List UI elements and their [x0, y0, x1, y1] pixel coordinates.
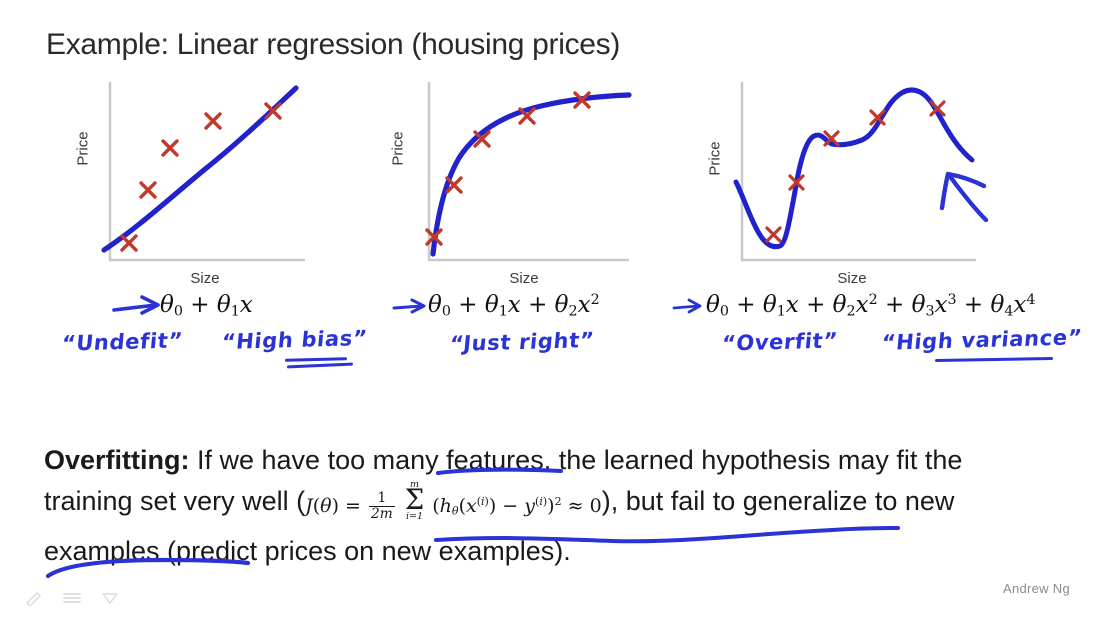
annotation-underfit-text: “Undefit”	[61, 328, 184, 355]
equation-underfit: θ0 + θ1x	[160, 292, 253, 320]
cost-function-formula: J(θ) = 12m mΣi=1 (hθ(x(i)) − y(i))2 ≈ 0	[305, 481, 602, 531]
plot-overfit-svg	[728, 78, 1018, 273]
data-markers	[767, 102, 944, 241]
plot-just-right-y-label: Price	[390, 131, 407, 165]
annotation-just-right-text: “Just right”	[449, 328, 596, 356]
annotation-overfit: “Overfit”	[722, 330, 838, 354]
plot-just-right-x-label: Size	[415, 270, 633, 287]
plot-underfit: Price Size	[100, 78, 310, 273]
annotation-underfit: “Undefit”	[62, 330, 183, 354]
plot-overfit: Price Size	[728, 78, 1018, 273]
highlighter-icon[interactable]	[100, 590, 120, 606]
annotation-toolbar[interactable]	[24, 590, 120, 606]
plot-underfit-svg	[100, 78, 310, 273]
page-title: Example: Linear regression (housing pric…	[46, 28, 620, 62]
annotation-high-variance-text: “High variance”	[881, 325, 1084, 355]
plot-underfit-y-label: Price	[75, 131, 92, 165]
annotation-just-right: “Just right”	[450, 330, 594, 354]
equation-just-right: θ0 + θ1x + θ2x2	[428, 292, 600, 320]
regression-curve	[736, 90, 972, 247]
footer-credit: Andrew Ng	[1003, 581, 1070, 596]
plot-overfit-x-label: Size	[728, 270, 976, 287]
annotation-high-variance: “High variance”	[882, 328, 1082, 352]
lines-icon[interactable]	[62, 590, 82, 606]
equation-row: θ0 + θ1x θ0 + θ1x + θ2x2 θ0 + θ1x + θ2x2…	[0, 288, 1096, 388]
annotation-high-bias-underline	[285, 357, 347, 362]
annotation-overfit-text: “Overfit”	[721, 328, 839, 355]
body-lead-bold: Overfitting:	[44, 445, 190, 475]
equation-overfit: θ0 + θ1x + θ2x2 + θ3x3 + θ4x4	[706, 292, 1035, 320]
axis-lines	[742, 82, 976, 260]
body-paragraph: Overfitting: If we have too many feature…	[44, 440, 1054, 572]
pen-icon[interactable]	[24, 590, 44, 606]
ink-arrow-3-icon	[672, 296, 710, 318]
regression-line	[104, 88, 296, 250]
plot-just-right: Price Size	[415, 78, 633, 273]
annotation-high-bias: “High bias”	[222, 328, 367, 352]
plot-just-right-svg	[415, 78, 633, 273]
handdrawn-arrow-icon	[942, 174, 986, 220]
plot-underfit-x-label: Size	[100, 270, 310, 287]
slide-canvas: Example: Linear regression (housing pric…	[0, 0, 1096, 620]
annotation-high-bias-underline-2	[287, 363, 353, 369]
annotation-high-bias-text: “High bias”	[221, 326, 369, 354]
plot-overfit-y-label: Price	[707, 141, 724, 175]
annotation-high-variance-underline	[935, 357, 1053, 362]
